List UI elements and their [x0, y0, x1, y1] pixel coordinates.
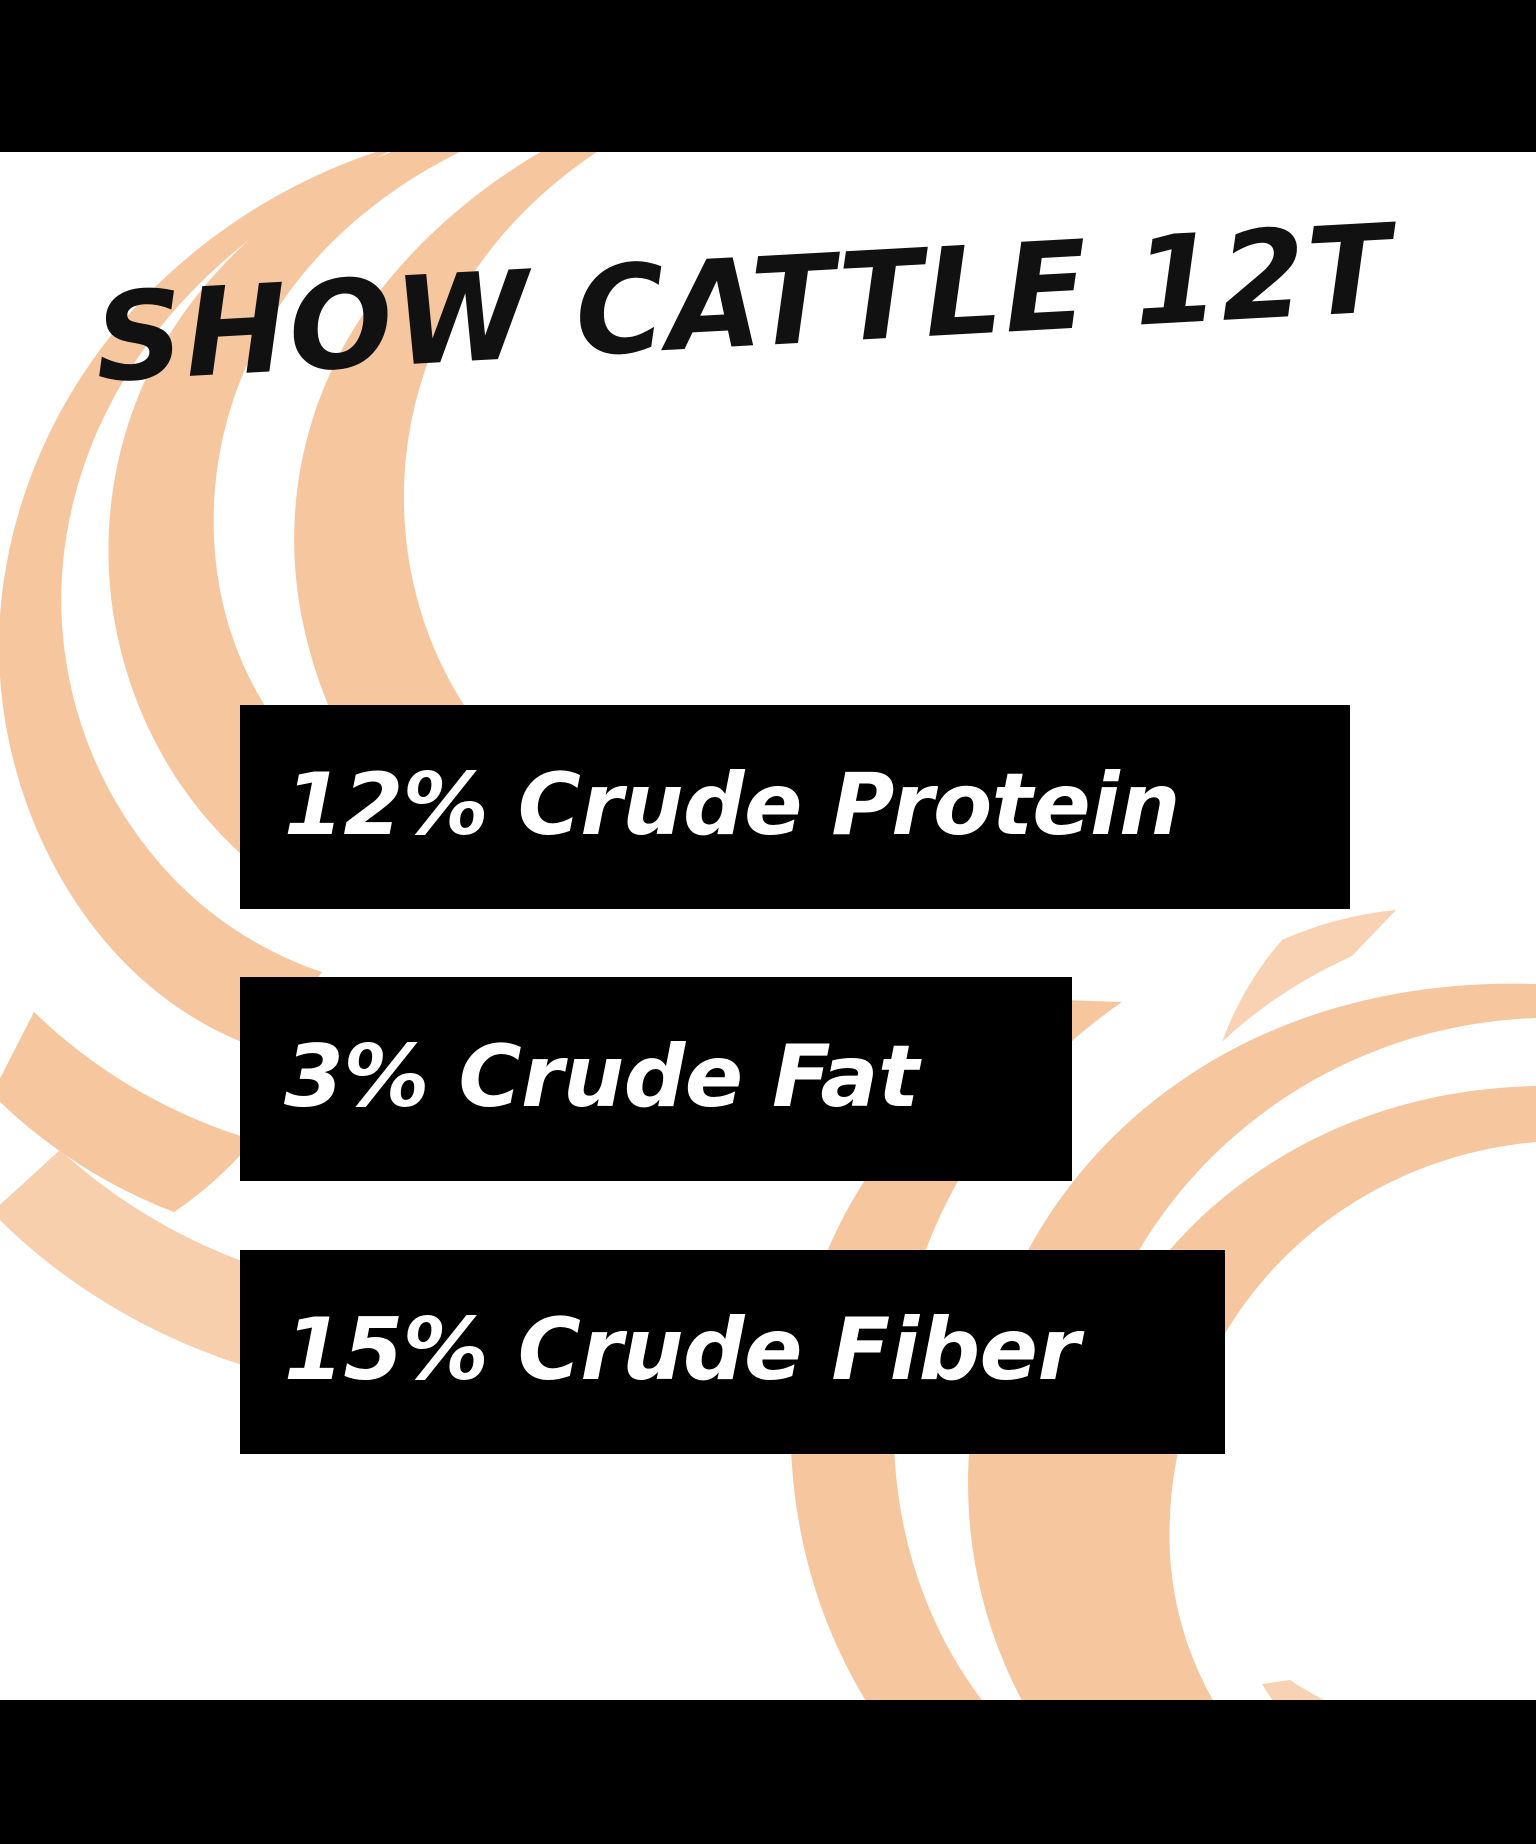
- nutrient-banner: 15% Crude Fiber: [240, 1250, 1225, 1454]
- poster-canvas: SHOW CATTLE 12T 12% Crude Protein 3% Cru…: [0, 0, 1536, 1844]
- page-title-text: SHOW CATTLE 12T: [92, 208, 1395, 400]
- bottom-letterbox-bar: [0, 1700, 1536, 1844]
- nutrient-banner: 12% Crude Protein: [240, 705, 1350, 909]
- nutrient-banner-label: 3% Crude Fat: [240, 1034, 919, 1120]
- nutrient-banner: 3% Crude Fat: [240, 977, 1072, 1181]
- top-letterbox-bar: [0, 0, 1536, 152]
- nutrient-banner-label: 15% Crude Fiber: [240, 1307, 1079, 1393]
- nutrient-banner-label: 12% Crude Protein: [240, 762, 1180, 848]
- page-title: SHOW CATTLE 12T: [0, 278, 1536, 468]
